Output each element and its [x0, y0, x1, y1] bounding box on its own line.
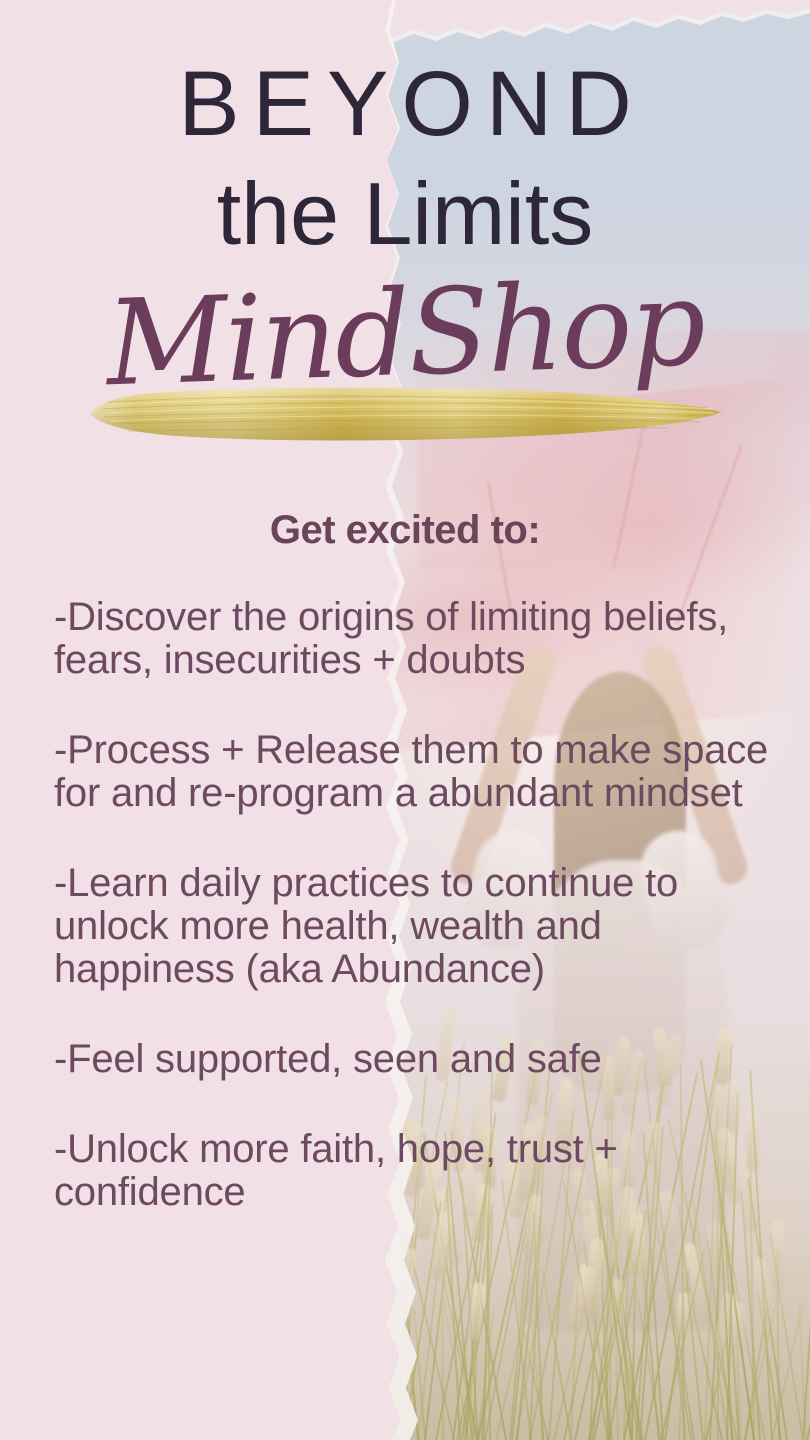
bullet-item: -Feel supported, seen and safe: [54, 1038, 774, 1081]
poster-canvas: BEYOND the Limits MindShop Get excited t…: [0, 0, 810, 1440]
section-heading: Get excited to:: [0, 506, 810, 554]
page-title-line2: the Limits: [0, 166, 810, 262]
bullet-item: -Learn daily practices to continue to un…: [54, 862, 774, 991]
bullet-list: -Discover the origins of limiting belief…: [54, 596, 774, 1214]
bullet-item: -Discover the origins of limiting belief…: [54, 596, 774, 682]
bullet-item: -Unlock more faith, hope, trust + confid…: [54, 1128, 774, 1214]
bullet-item: -Process + Release them to make space fo…: [54, 729, 774, 815]
script-logo: MindShop: [0, 254, 810, 412]
page-title-line1: BEYOND: [0, 56, 810, 152]
